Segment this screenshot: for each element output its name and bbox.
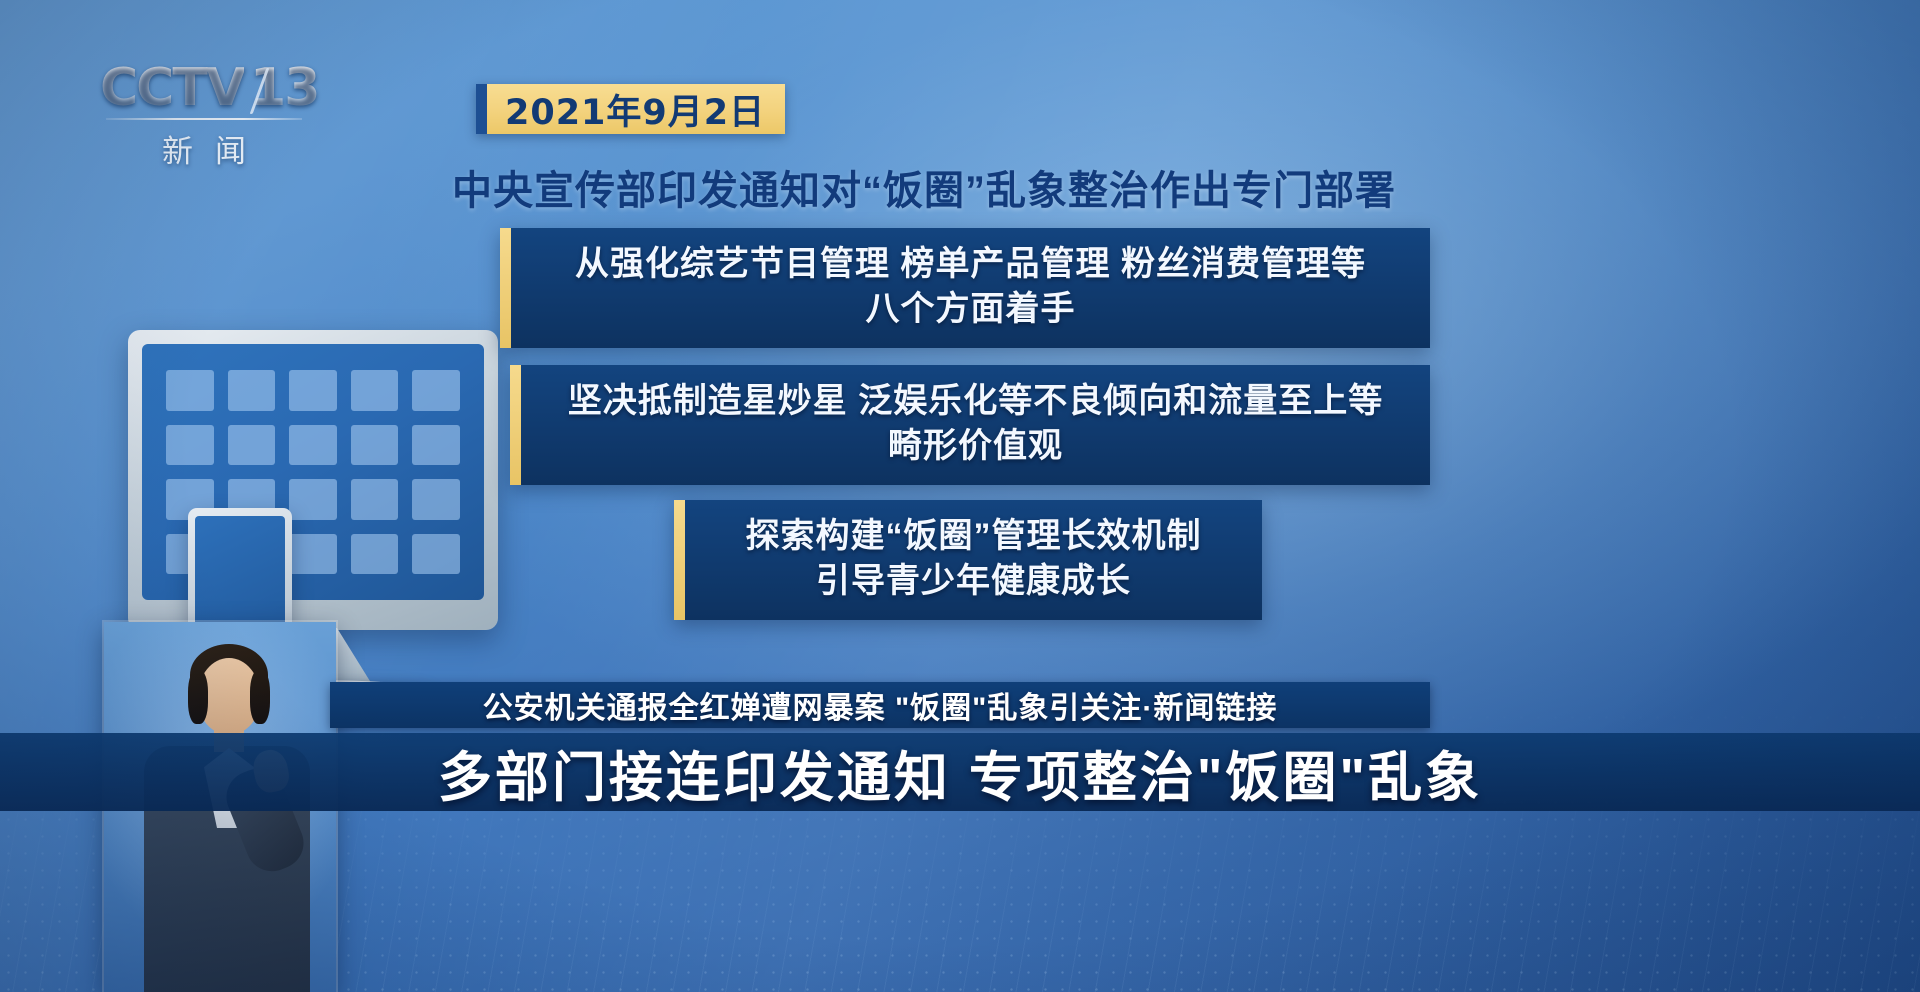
date-badge: 2021年9月2日: [476, 84, 785, 134]
ticker-bottom-text: 多部门接连印发通知 专项整治"饭圈"乱象: [438, 733, 1482, 812]
content-card-three: 探索构建“饭圈”管理长效机制 引导青少年健康成长: [674, 500, 1262, 620]
anchor-hair-right: [250, 670, 270, 724]
cctv-wordmark: CCTV: [100, 62, 244, 114]
content-card-two: 坚决抵制造星炒星 泛娱乐化等不良倾向和流量至上等 畸形价值观: [510, 365, 1430, 485]
card-accent-bar: [500, 228, 511, 348]
card-panel: 从强化综艺节目管理 榜单产品管理 粉丝消费管理等 八个方面着手: [511, 228, 1430, 348]
logo-rule-divider: [106, 118, 302, 120]
ticker-bottom-bar: 多部门接连印发通知 专项整治"饭圈"乱象: [0, 733, 1920, 811]
card-accent-bar: [510, 365, 521, 485]
ticker-top-bar: 公安机关通报全红婵遭网暴案 "饭圈"乱象引关注·新闻链接: [330, 682, 1430, 728]
ticker-top-text: 公安机关通报全红婵遭网暴案 "饭圈"乱象引关注·新闻链接: [483, 683, 1278, 727]
card-line-1: 探索构建“饭圈”管理长效机制: [711, 514, 1236, 559]
channel-subtitle: 新闻: [100, 126, 310, 171]
date-badge-accent: [476, 84, 487, 134]
date-badge-body: 2021年9月2日: [487, 84, 785, 134]
card-line-2: 畸形价值观: [547, 424, 1404, 469]
channel-logo-row: CCTV 13: [100, 62, 310, 114]
card-line-2: 八个方面着手: [537, 287, 1404, 332]
anchor-hair-left: [188, 670, 208, 724]
card-accent-bar: [674, 500, 685, 620]
card-line-1: 坚决抵制造星炒星 泛娱乐化等不良倾向和流量至上等: [547, 379, 1404, 424]
card-line-2: 引导青少年健康成长: [711, 559, 1236, 604]
card-panel: 坚决抵制造星炒星 泛娱乐化等不良倾向和流量至上等 畸形价值观: [521, 365, 1430, 485]
desktop-monitor-icon: [128, 330, 498, 630]
content-card-one: 从强化综艺节目管理 榜单产品管理 粉丝消费管理等 八个方面着手: [500, 228, 1430, 348]
channel-logo: CCTV 13 新闻: [100, 62, 310, 171]
card-panel: 探索构建“饭圈”管理长效机制 引导青少年健康成长: [685, 500, 1262, 620]
date-text: 2021年9月2日: [505, 84, 765, 135]
broadcast-frame: CCTV 13 新闻 2021年9月2日 中央宣传部印发通知对“饭圈”乱象整治作…: [0, 0, 1920, 992]
card-line-1: 从强化综艺节目管理 榜单产品管理 粉丝消费管理等: [537, 242, 1404, 287]
page-title: 中央宣传部印发通知对“饭圈”乱象整治作出专门部署: [452, 158, 1472, 216]
